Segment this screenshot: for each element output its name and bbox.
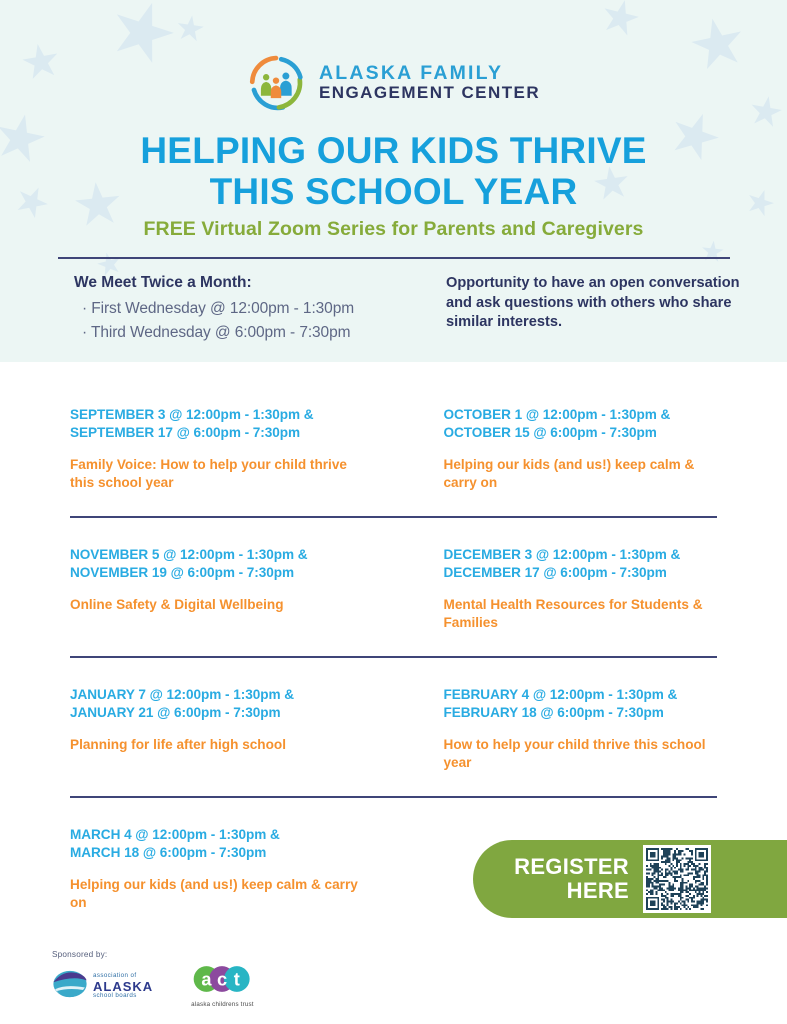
schedule-topic: Helping our kids (and us!) keep calm & c…: [444, 456, 708, 492]
title-line-1: HELPING OUR KIDS THRIVE: [0, 130, 787, 171]
schedule-dates: NOVEMBER 5 @ 12:00pm - 1:30pm &NOVEMBER …: [70, 546, 368, 582]
schedule-dates: JANUARY 7 @ 12:00pm - 1:30pm &JANUARY 21…: [70, 686, 368, 722]
svg-text:t: t: [234, 970, 240, 990]
schedule-row: NOVEMBER 5 @ 12:00pm - 1:30pm &NOVEMBER …: [0, 546, 787, 638]
meeting-bullet-list: First Wednesday @ 12:00pm - 1:30pmThird …: [74, 297, 434, 345]
register-button[interactable]: REGISTER HERE: [473, 840, 787, 918]
session-schedule: SEPTEMBER 3 @ 12:00pm - 1:30pm &SEPTEMBE…: [0, 362, 787, 918]
act-circles-logo-icon: a c t: [193, 964, 251, 999]
act-logo: a c t alaska childrens trust: [191, 964, 254, 1008]
register-label-line-2: HERE: [489, 879, 629, 903]
schedule-dates: MARCH 4 @ 12:00pm - 1:30pm &MARCH 18 @ 6…: [70, 826, 368, 862]
aasb-logo: association of ALASKA school boards: [52, 970, 153, 1003]
schedule-row: JANUARY 7 @ 12:00pm - 1:30pm &JANUARY 21…: [0, 686, 787, 778]
meeting-bullet-1: Third Wednesday @ 6:00pm - 7:30pm: [82, 321, 434, 345]
schedule-topic: Planning for life after high school: [70, 736, 368, 754]
schedule-topic: Helping our kids (and us!) keep calm & c…: [70, 876, 368, 912]
schedule-row-divider: [70, 796, 717, 798]
page-subtitle: FREE Virtual Zoom Series for Parents and…: [0, 218, 787, 241]
meeting-schedule-block: We Meet Twice a Month: First Wednesday @…: [74, 274, 434, 345]
svg-text:c: c: [217, 970, 227, 990]
schedule-entry: JANUARY 7 @ 12:00pm - 1:30pm &JANUARY 21…: [70, 686, 394, 778]
title-line-2: THIS SCHOOL YEAR: [0, 171, 787, 212]
schedule-topic: Online Safety & Digital Wellbeing: [70, 596, 368, 614]
schedule-topic: Family Voice: How to help your child thr…: [70, 456, 368, 492]
schedule-row-divider: [70, 656, 717, 658]
sponsors-section: Sponsored by: association of ALASKA scho…: [52, 950, 352, 1008]
schedule-entry: DECEMBER 3 @ 12:00pm - 1:30pm &DECEMBER …: [394, 546, 718, 638]
register-label-line-1: REGISTER: [489, 855, 629, 879]
page-title: HELPING OUR KIDS THRIVE THIS SCHOOL YEAR: [0, 130, 787, 213]
schedule-row-divider: [70, 516, 717, 518]
schedule-dates: DECEMBER 3 @ 12:00pm - 1:30pm &DECEMBER …: [444, 546, 708, 582]
schedule-row: SEPTEMBER 3 @ 12:00pm - 1:30pm &SEPTEMBE…: [0, 406, 787, 498]
organization-logo: ALASKA FAMILY ENGAGEMENT CENTER: [0, 54, 787, 112]
schedule-entry: FEBRUARY 4 @ 12:00pm - 1:30pm &FEBRUARY …: [394, 686, 718, 778]
meeting-bullet-0: First Wednesday @ 12:00pm - 1:30pm: [82, 297, 434, 321]
aasb-line-3: school boards: [93, 993, 153, 999]
schedule-topic: How to help your child thrive this schoo…: [444, 736, 708, 772]
family-circle-logo-icon: [247, 54, 305, 112]
logo-line-1: ALASKA FAMILY: [319, 63, 540, 84]
schedule-entry: NOVEMBER 5 @ 12:00pm - 1:30pm &NOVEMBER …: [70, 546, 394, 638]
act-caption: alaska childrens trust: [191, 1001, 254, 1008]
aasb-circle-logo-icon: [52, 970, 88, 1003]
svg-text:a: a: [202, 970, 213, 990]
schedule-dates: OCTOBER 1 @ 12:00pm - 1:30pm &OCTOBER 15…: [444, 406, 708, 442]
aasb-line-2: ALASKA: [93, 980, 153, 993]
meeting-heading: We Meet Twice a Month:: [74, 274, 434, 292]
schedule-dates: FEBRUARY 4 @ 12:00pm - 1:30pm &FEBRUARY …: [444, 686, 708, 722]
header-divider: [58, 257, 730, 259]
meeting-note: Opportunity to have an open conversation…: [446, 274, 746, 333]
logo-line-2: ENGAGEMENT CENTER: [319, 84, 540, 102]
schedule-topic: Mental Health Resources for Students & F…: [444, 596, 708, 632]
qr-code-icon[interactable]: [643, 845, 711, 913]
schedule-entry: MARCH 4 @ 12:00pm - 1:30pm &MARCH 18 @ 6…: [70, 826, 394, 918]
sponsored-by-label: Sponsored by:: [52, 950, 352, 959]
schedule-entry: OCTOBER 1 @ 12:00pm - 1:30pm &OCTOBER 15…: [394, 406, 718, 498]
schedule-dates: SEPTEMBER 3 @ 12:00pm - 1:30pm &SEPTEMBE…: [70, 406, 368, 442]
header-band: ★★★★★★★★★★★★★★ ALASKA FAMILY: [0, 0, 787, 362]
schedule-entry: SEPTEMBER 3 @ 12:00pm - 1:30pm &SEPTEMBE…: [70, 406, 394, 498]
register-button-label: REGISTER HERE: [489, 855, 629, 903]
